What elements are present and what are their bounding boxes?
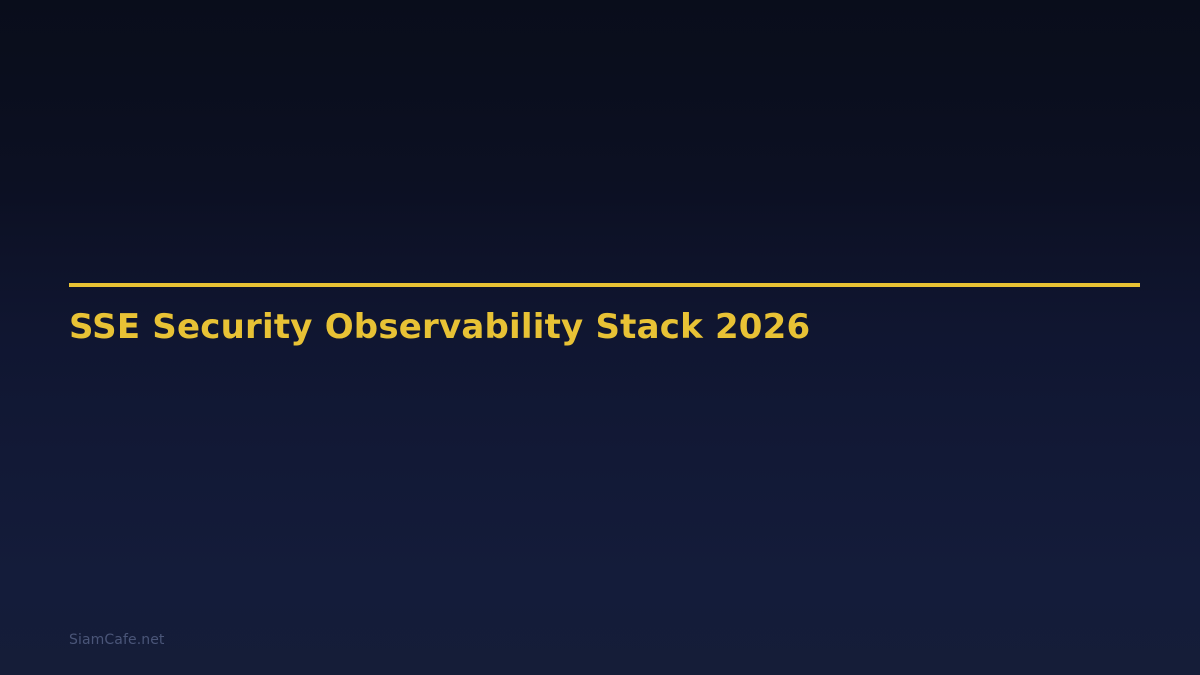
accent-rule-divider: [69, 283, 1140, 287]
title-block: SSE Security Observability Stack 2026: [69, 283, 1140, 287]
footer-brand-label: SiamCafe.net: [69, 630, 165, 650]
presentation-slide: SSE Security Observability Stack 2026 Si…: [0, 0, 1200, 675]
slide-footer: SiamCafe.net: [69, 630, 165, 650]
page-title: SSE Security Observability Stack 2026: [69, 307, 810, 347]
